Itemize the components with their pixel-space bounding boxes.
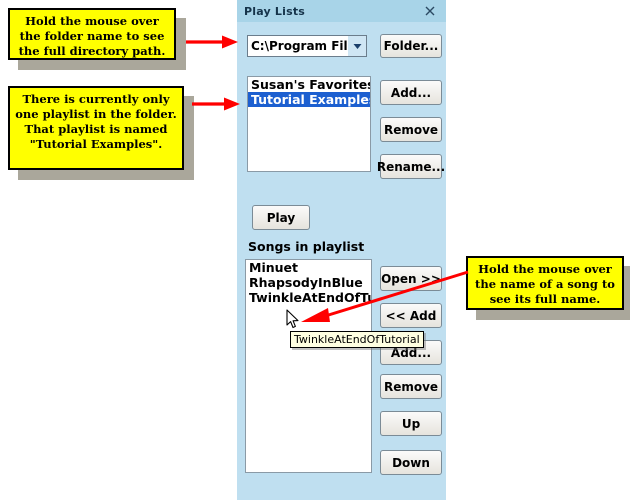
song-up-button[interactable]: Up (380, 411, 442, 436)
callout-arrow-icon (192, 95, 244, 113)
callout-folder-tip: Hold the mouse over the folder name to s… (8, 8, 176, 60)
song-remove-button[interactable]: Remove (380, 374, 442, 399)
callout-playlist-count: There is currently only one playlist in … (8, 86, 184, 170)
playlist-remove-button[interactable]: Remove (380, 117, 442, 142)
playlists-listbox[interactable]: Susan's Favorites Tutorial Examples (247, 76, 371, 172)
song-down-button[interactable]: Down (380, 450, 442, 475)
playlist-rename-button[interactable]: Rename... (380, 154, 442, 179)
chevron-down-icon[interactable] (348, 36, 366, 56)
close-icon[interactable] (423, 4, 437, 18)
play-button[interactable]: Play (252, 205, 310, 230)
callout-arrow-icon (186, 33, 242, 51)
playlist-add-button[interactable]: Add... (380, 80, 442, 105)
screenshot-root: Play Lists C:\Program File Folder... Sus… (0, 0, 630, 500)
mouse-cursor-icon (286, 309, 300, 330)
window-titlebar: Play Lists (237, 0, 446, 22)
list-item[interactable]: Tutorial Examples (248, 92, 370, 107)
folder-path-value: C:\Program File (248, 39, 348, 53)
window-title: Play Lists (244, 5, 305, 18)
list-item[interactable]: Susan's Favorites (248, 77, 370, 92)
callout-arrow-icon (296, 270, 472, 328)
folder-button[interactable]: Folder... (380, 34, 442, 58)
songs-section-label: Songs in playlist (248, 239, 364, 254)
callout-song-tip: Hold the mouse over the name of a song t… (466, 256, 624, 310)
folder-path-combobox[interactable]: C:\Program File (247, 35, 367, 57)
song-name-tooltip: TwinkleAtEndOfTutorial (290, 331, 424, 348)
